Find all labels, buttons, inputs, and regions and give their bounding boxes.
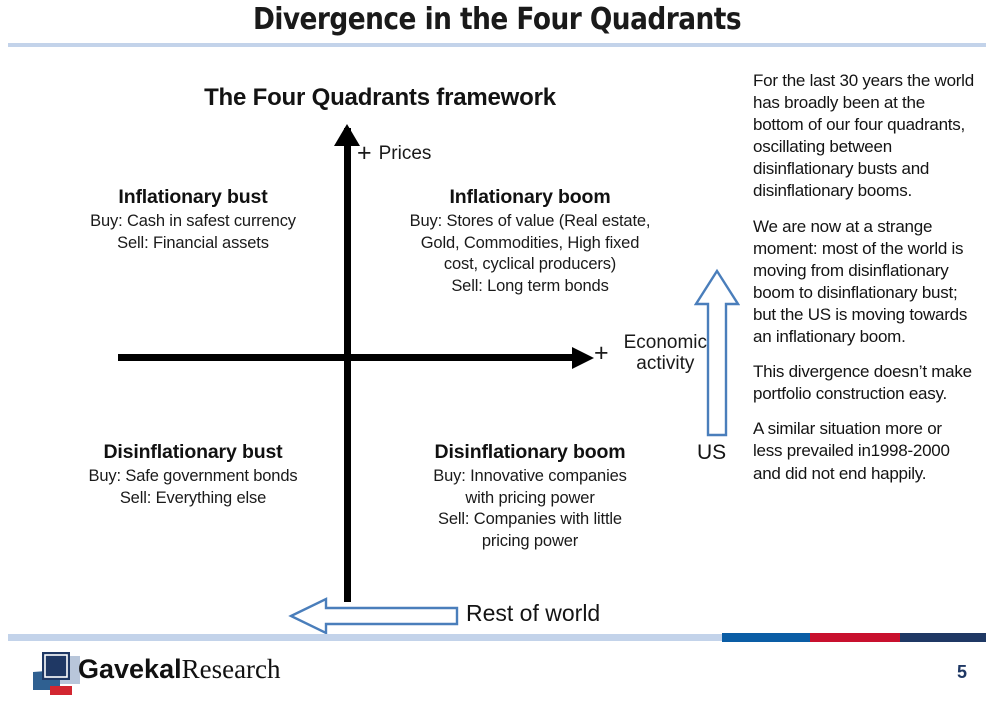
rest-of-world-arrow-label: Rest of world	[466, 600, 600, 627]
commentary-paragraph: For the last 30 years the world has broa…	[753, 70, 975, 203]
quadrant-line: cost, cyclical producers)	[380, 254, 680, 275]
quadrant-disinflationary-bust: Disinflationary bust Buy: Safe governmen…	[58, 440, 328, 509]
quadrant-line: Sell: Everything else	[58, 488, 328, 509]
commentary-paragraph: This divergence doesn’t make portfolio c…	[753, 361, 975, 405]
quadrant-title: Disinflationary bust	[58, 440, 328, 465]
framework-heading: The Four Quadrants framework	[110, 84, 650, 112]
horizontal-axis-label: + Economic activity	[594, 332, 707, 375]
us-up-arrow-icon	[694, 268, 740, 438]
quadrant-line: Buy: Stores of value (Real estate,	[380, 211, 680, 232]
economic-line-2: activity	[636, 353, 694, 374]
rest-of-world-left-arrow-icon	[288, 596, 460, 636]
quadrant-line: Sell: Companies with little	[380, 509, 680, 530]
quadrant-line: pricing power	[380, 531, 680, 552]
plus-sign-prices: +	[357, 139, 372, 167]
commentary-paragraph: We are now at a strange moment: most of …	[753, 216, 975, 349]
gavekal-research-logo: GavekalResearch	[30, 650, 260, 700]
vertical-axis-label: +Prices	[357, 139, 431, 168]
quadrant-inflationary-bust: Inflationary bust Buy: Cash in safest cu…	[58, 185, 328, 254]
logo-brand-text: Gavekal	[78, 654, 182, 684]
page-number: 5	[957, 662, 967, 683]
vertical-axis-line	[344, 128, 351, 602]
footer-bar-navy	[900, 633, 986, 642]
logo-wordmark: GavekalResearch	[78, 654, 281, 685]
slide-title: Divergence in the Four Quadrants	[60, 2, 935, 37]
quadrant-line: Buy: Cash in safest currency	[58, 211, 328, 232]
quadrant-line: Sell: Long term bonds	[380, 276, 680, 297]
quadrant-title: Disinflationary boom	[380, 440, 680, 465]
us-arrow-label: US	[697, 441, 726, 465]
commentary-paragraph: A similar situation more or less prevail…	[753, 418, 975, 484]
quadrant-line: Buy: Safe government bonds	[58, 466, 328, 487]
quadrant-title: Inflationary boom	[380, 185, 680, 210]
quadrant-line: with pricing power	[380, 488, 680, 509]
commentary-panel: For the last 30 years the world has broa…	[753, 70, 975, 485]
horizontal-axis-line	[118, 354, 578, 361]
quadrant-title: Inflationary bust	[58, 185, 328, 210]
header-divider	[8, 43, 986, 47]
slide-root: Divergence in the Four Quadrants The Fou…	[0, 0, 994, 707]
logo-suffix-text: Research	[182, 654, 281, 684]
quadrant-line: Gold, Commodities, High fixed	[380, 233, 680, 254]
horizontal-axis-arrowhead-icon	[572, 347, 594, 369]
footer-bar-blue	[722, 633, 810, 642]
vertical-axis-label-text: Prices	[379, 143, 432, 164]
quadrant-disinflationary-boom: Disinflationary boom Buy: Innovative com…	[380, 440, 680, 552]
quadrant-inflationary-boom: Inflationary boom Buy: Stores of value (…	[380, 185, 680, 297]
plus-sign-economic: +	[594, 339, 609, 368]
footer-bar-red	[810, 633, 900, 642]
quadrant-line: Sell: Financial assets	[58, 233, 328, 254]
quadrant-line: Buy: Innovative companies	[380, 466, 680, 487]
